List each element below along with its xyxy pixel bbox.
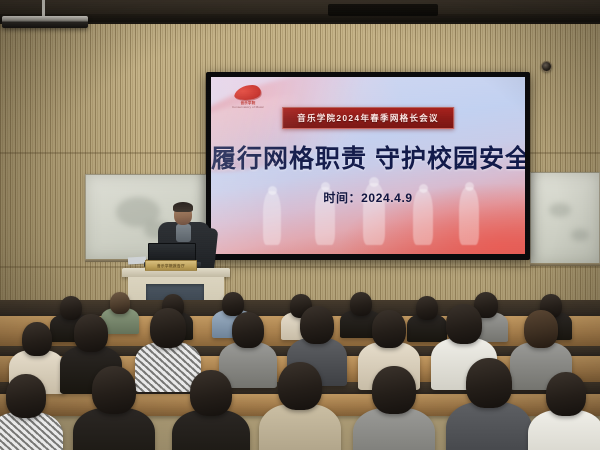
logo-mark-icon (233, 85, 262, 100)
audience-person-head (372, 366, 416, 414)
audience-person-torso (353, 408, 435, 450)
slide-date: 时间：2024.4.9 (211, 189, 525, 206)
audience-person-head (466, 358, 512, 408)
audience-person-head (60, 296, 82, 320)
audience-person-head (150, 308, 186, 348)
audience (0, 300, 600, 450)
audience-person-head (446, 304, 482, 344)
lecture-hall-photo: 音乐学院 Conservatory of Music 音乐学院2024年春季网格… (0, 0, 600, 450)
podium-plaque: 音乐学院报告厅 (145, 260, 197, 271)
speaker-hair (173, 202, 193, 212)
ceiling-speaker (328, 4, 438, 16)
audience-person-head (546, 372, 586, 416)
wall-sensor-camera-icon (541, 61, 552, 72)
slide-logo: 音乐学院 Conservatory of Music (225, 85, 271, 115)
audience-person-torso (259, 404, 341, 450)
logo-sub-text: Conservatory of Music (225, 106, 271, 110)
slide-banner: 音乐学院2024年春季网格长会议 (282, 107, 454, 129)
projection-screen-frame: 音乐学院 Conservatory of Music 音乐学院2024年春季网格… (206, 72, 530, 260)
whiteboard-right (530, 172, 600, 264)
audience-person-head (6, 374, 46, 418)
audience-person-torso (446, 402, 532, 450)
speaker-shirt (176, 224, 191, 242)
slide-title: 履行网格职责 守护校园安全 (211, 139, 525, 175)
ceiling-rail (0, 14, 600, 22)
whiteboard-tray (530, 263, 600, 266)
projection-screen: 音乐学院 Conservatory of Music 音乐学院2024年春季网格… (211, 77, 525, 254)
slide-banner-text: 音乐学院2024年春季网格长会议 (297, 112, 439, 124)
audience-person-head (22, 322, 52, 356)
audience-person-head (300, 306, 334, 344)
slide-silhouette-head (369, 177, 379, 187)
audience-person-head (232, 312, 264, 348)
wall-shadow (0, 0, 140, 330)
audience-person-torso (528, 410, 600, 450)
audience-person-head (372, 310, 406, 348)
audience-person-head (190, 370, 232, 416)
audience-person-head (278, 362, 322, 410)
podium-plaque-text: 音乐学院报告厅 (146, 261, 196, 271)
audience-person-head (92, 366, 136, 414)
ceiling-light-icon (2, 16, 88, 28)
audience-person-torso (73, 408, 155, 450)
audience-person-head (524, 310, 558, 348)
audience-person-torso (172, 410, 250, 450)
audience-person-head (74, 314, 108, 352)
audience-person-head (110, 292, 130, 314)
audience-person-head (350, 292, 372, 316)
audience-person-head (416, 296, 438, 320)
slide-silhouette-group (211, 173, 525, 245)
